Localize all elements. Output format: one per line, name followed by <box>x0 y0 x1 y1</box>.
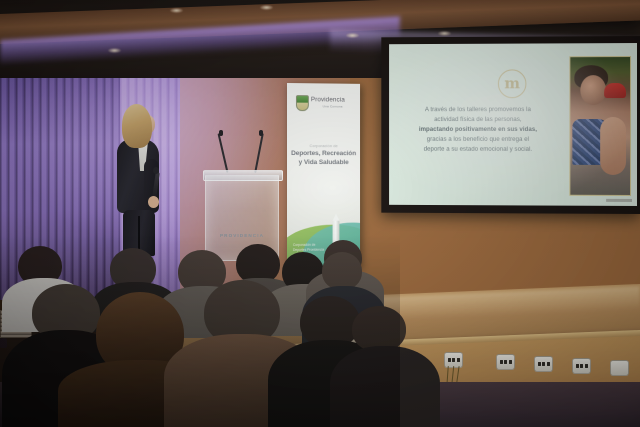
banner-eyebrow: Corporación de <box>287 143 360 148</box>
photo-face <box>580 75 606 105</box>
banner-brand: Providencia <box>311 96 345 103</box>
speaker-hair <box>122 104 152 148</box>
providencia-crest-icon <box>296 95 309 111</box>
power-outlet-icon <box>496 354 515 370</box>
audience-shoulders-front <box>330 346 440 427</box>
slide-line-3-emphasis: impactando positivamente en sus vidas, <box>401 125 556 135</box>
ceiling-downlight-icon <box>108 48 121 53</box>
power-outlet-blank-icon <box>610 360 629 376</box>
wall-speaker-icon <box>0 338 7 348</box>
audience-head <box>322 252 362 290</box>
slide-photo-credit <box>606 199 632 202</box>
slide-line-2: actividad física de las personas, <box>401 115 556 125</box>
banner-brand-sub: Una Comuna <box>323 104 343 108</box>
power-outlet-icon <box>572 358 591 374</box>
presentation-slide: m A través de los talleres promovemos la… <box>389 43 637 206</box>
conference-photo-scene: m A través de los talleres promovemos la… <box>0 0 640 427</box>
microphone-head-left <box>219 130 223 136</box>
slide-line-4: gracias a los beneficio que entrega el <box>401 135 556 145</box>
obelisk-tip <box>333 214 340 221</box>
projection-screen: m A través de los talleres promovemos la… <box>381 36 640 214</box>
banner-title-line-2: y Vida Saludable <box>291 159 356 168</box>
photo-red-cap <box>604 83 626 98</box>
slide-line-1: A través de los talleres promovemos la <box>401 105 556 115</box>
banner-title-line-1: Deportes, Recreación <box>291 150 356 159</box>
photo-arm <box>600 117 626 175</box>
speaker-person <box>108 104 170 254</box>
lectern-logo-text: PROVIDENCIA <box>206 233 278 238</box>
microphone-head-right <box>259 130 263 136</box>
power-outlet-icon <box>534 356 553 372</box>
slide-line-5: deporte a su estado emocional y social. <box>401 145 556 155</box>
speaker-hand <box>148 196 159 208</box>
ceiling-downlight-icon <box>346 33 359 38</box>
monogram-letter: m <box>504 76 520 91</box>
ceiling-downlight-icon <box>170 8 183 13</box>
microphone-capsule <box>153 167 159 174</box>
ceiling-downlight-icon <box>260 5 273 10</box>
slide-photo <box>569 56 631 196</box>
banner-title: Deportes, Recreación y Vida Saludable <box>291 150 356 167</box>
banner-footer: Corporación de Deportes Providencia <box>293 243 324 253</box>
ceiling-downlight-icon <box>438 31 451 36</box>
circle-m-monogram-icon: m <box>498 69 527 98</box>
slide-body-text: A través de los talleres promovemos la a… <box>401 105 556 155</box>
